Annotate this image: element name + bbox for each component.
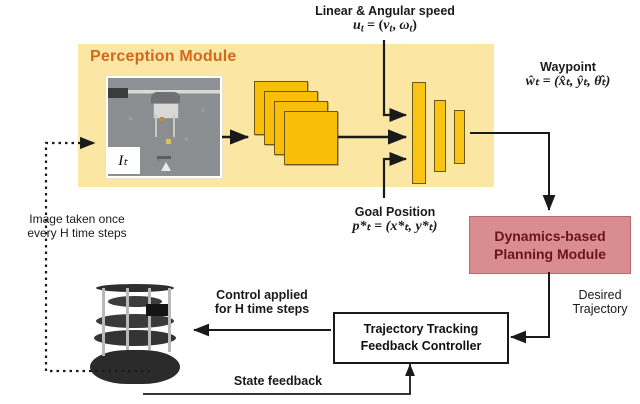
capture-line-1: Image taken once [2,213,152,227]
robot-post-2 [126,288,129,350]
image-symbol-label: Iₜ [106,147,140,174]
diagram-canvas: Linear & Angular speed ut = (vt, ωt) Per… [0,0,640,404]
fc-layer-2 [434,100,446,172]
goal-title: Goal Position [305,205,485,219]
control-applied-label: Control applied for H time steps [198,288,326,317]
control-line-1: Control applied [198,288,326,302]
speed-title: Linear & Angular speed [290,4,480,18]
background-object [108,88,128,98]
goal-position-label: Goal Position p*ₜ = (x*ₜ, y*ₜ) [305,205,485,235]
fc-layer-3 [454,110,465,164]
robot-plate-2 [96,314,174,328]
dynamics-based-planning-module[interactable]: Dynamics-based Planning Module [469,216,631,274]
waypoint-label: Waypoint ŵₜ = (x̂ₜ, ŷₜ, θ̂ₜ) [498,60,638,90]
desired-line-2: Trajectory [561,302,639,316]
controller-line-1: Trajectory Tracking [364,321,479,338]
turtlebot-robot [82,280,190,386]
trajectory-tracking-feedback-controller[interactable]: Trajectory Tracking Feedback Controller [333,312,509,364]
desired-trajectory-label: Desired Trajectory [561,288,639,317]
capture-line-2: every H time steps [2,227,152,241]
waypoint-title: Waypoint [498,60,638,74]
state-feedback-label: State feedback [213,374,343,388]
linear-angular-speed-label: Linear & Angular speed ut = (vt, ωt) [290,4,480,35]
waypoint-formula: ŵₜ = (x̂ₜ, ŷₜ, θ̂ₜ) [498,74,638,90]
control-line-2: for H time steps [198,302,326,316]
robot-post-3 [148,288,151,350]
desired-line-1: Desired [561,288,639,302]
image-capture-rate-label: Image taken once every H time steps [2,213,152,241]
speed-formula: ut = (vt, ωt) [290,18,480,35]
robot-post-1 [102,288,105,356]
conv-layer-4 [284,111,338,165]
robot-sensor [146,304,168,316]
marker-dot-yellow [166,139,171,144]
planning-line-1: Dynamics-based [494,227,605,245]
goal-formula: p*ₜ = (x*ₜ, y*ₜ) [305,219,485,235]
robot-top-plate [96,284,174,292]
floor-cone [161,162,171,171]
chair-leg-right [173,115,175,137]
chair-leg-left [155,115,157,137]
robot-plate-1 [94,330,176,346]
fc-layer-1 [412,82,426,184]
floor-marker [157,156,170,159]
marker-dot-orange [160,117,164,121]
robot-post-4 [168,288,171,352]
controller-line-2: Feedback Controller [361,338,482,355]
perception-module-title: Perception Module [90,48,237,66]
planning-line-2: Planning Module [494,245,606,263]
